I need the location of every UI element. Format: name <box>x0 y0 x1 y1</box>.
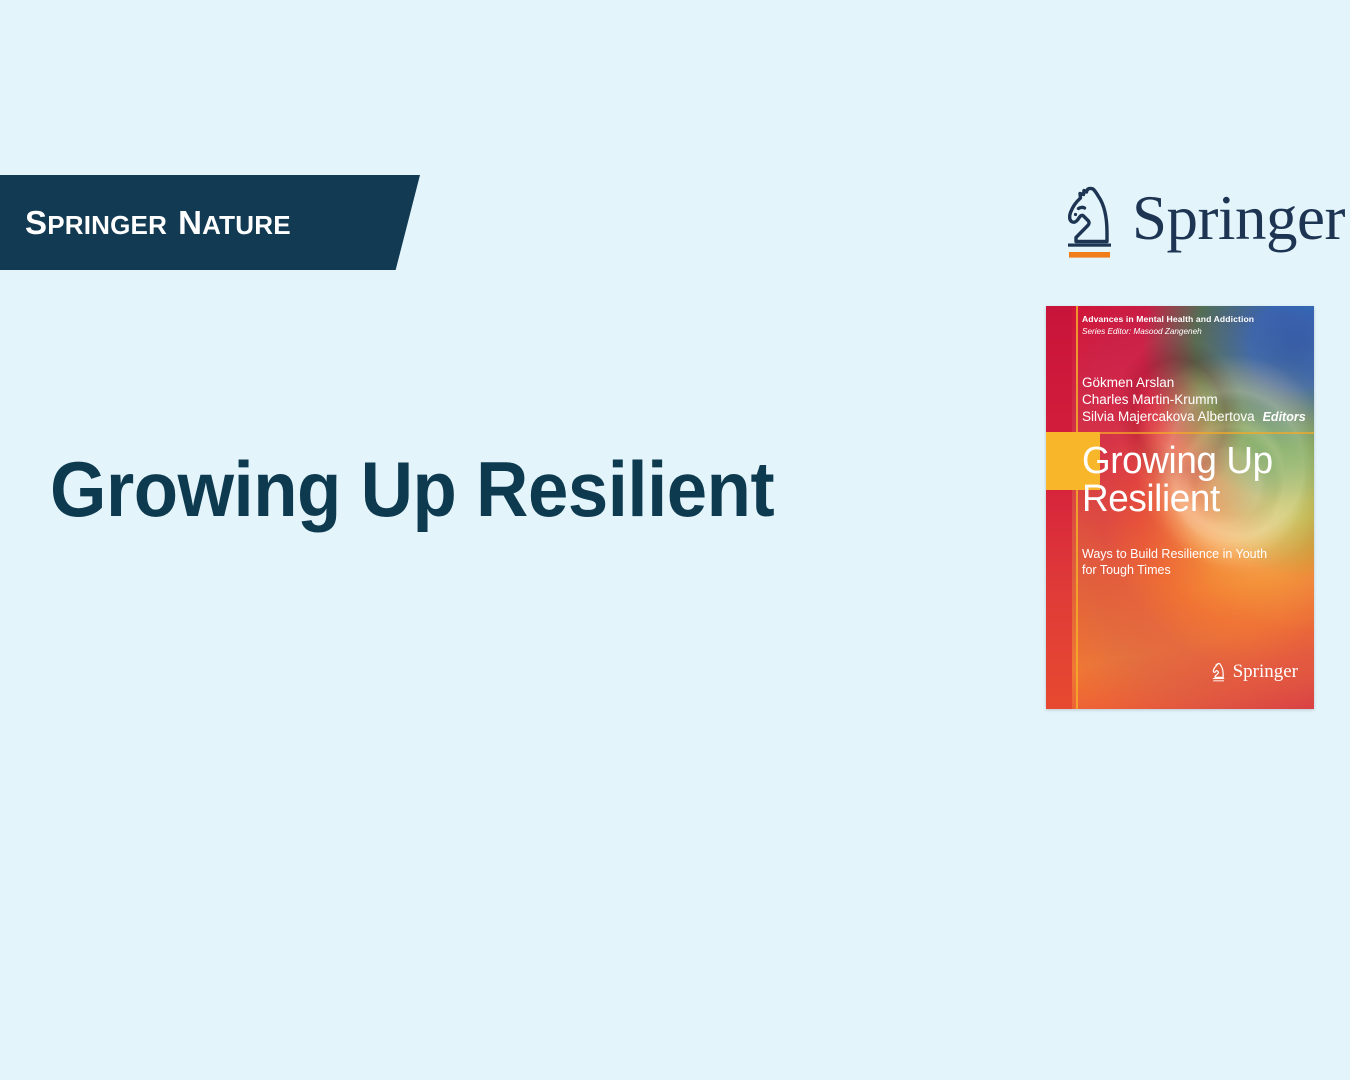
cover-series-editor: Series Editor: Masood Zangeneh <box>1082 327 1202 336</box>
cover-title-line-1: Growing Up <box>1082 442 1273 480</box>
springer-logo: Springer <box>1062 183 1324 263</box>
cover-title: Growing Up Resilient <box>1082 442 1273 518</box>
brand-nature-initial: N <box>178 204 202 241</box>
cover-editor-list: Gökmen Arslan Charles Martin-Krumm Silvi… <box>1082 374 1306 426</box>
slide-root: SPRINGERNATURE Springer Growing Up Resil… <box>0 0 1350 1080</box>
brand-nature-rest: ATURE <box>202 210 291 240</box>
cover-editor-1: Gökmen Arslan <box>1082 374 1306 391</box>
cover-subtitle: Ways to Build Resilience in Youth for To… <box>1082 546 1267 578</box>
brand-word-nature: NATURE <box>178 204 291 242</box>
cover-editor-3: Silvia Majercakova Albertova <box>1082 409 1255 424</box>
page-title: Growing Up Resilient <box>50 450 774 528</box>
cover-editor-2: Charles Martin-Krumm <box>1082 391 1306 408</box>
cover-publisher-logo: Springer <box>1211 661 1298 683</box>
springer-nature-wordmark: SPRINGERNATURE <box>25 204 291 242</box>
springer-wordmark: Springer <box>1132 187 1345 250</box>
cover-title-line-2: Resilient <box>1082 480 1273 518</box>
cover-editor-3-row: Silvia Majercakova AlbertovaEditors <box>1082 408 1306 426</box>
brand-word-springer: SPRINGER <box>25 204 167 242</box>
cover-subtitle-line-2: for Tough Times <box>1082 562 1267 578</box>
springer-nature-banner: SPRINGERNATURE <box>0 175 420 270</box>
cover-series-title: Advances in Mental Health and Addiction <box>1082 314 1254 324</box>
cover-editors-label: Editors <box>1263 410 1306 424</box>
book-cover: Advances in Mental Health and Addiction … <box>1046 306 1314 709</box>
cover-publisher-name: Springer <box>1233 661 1298 683</box>
cover-knight-chess-piece-icon <box>1211 662 1228 683</box>
brand-springer-rest: PRINGER <box>47 210 167 240</box>
knight-chess-piece-icon <box>1062 183 1124 263</box>
brand-springer-initial: S <box>25 204 47 241</box>
cover-subtitle-line-1: Ways to Build Resilience in Youth <box>1082 546 1267 562</box>
cover-text-layer: Advances in Mental Health and Addiction … <box>1046 306 1314 709</box>
orange-accent-bar <box>1069 252 1110 258</box>
